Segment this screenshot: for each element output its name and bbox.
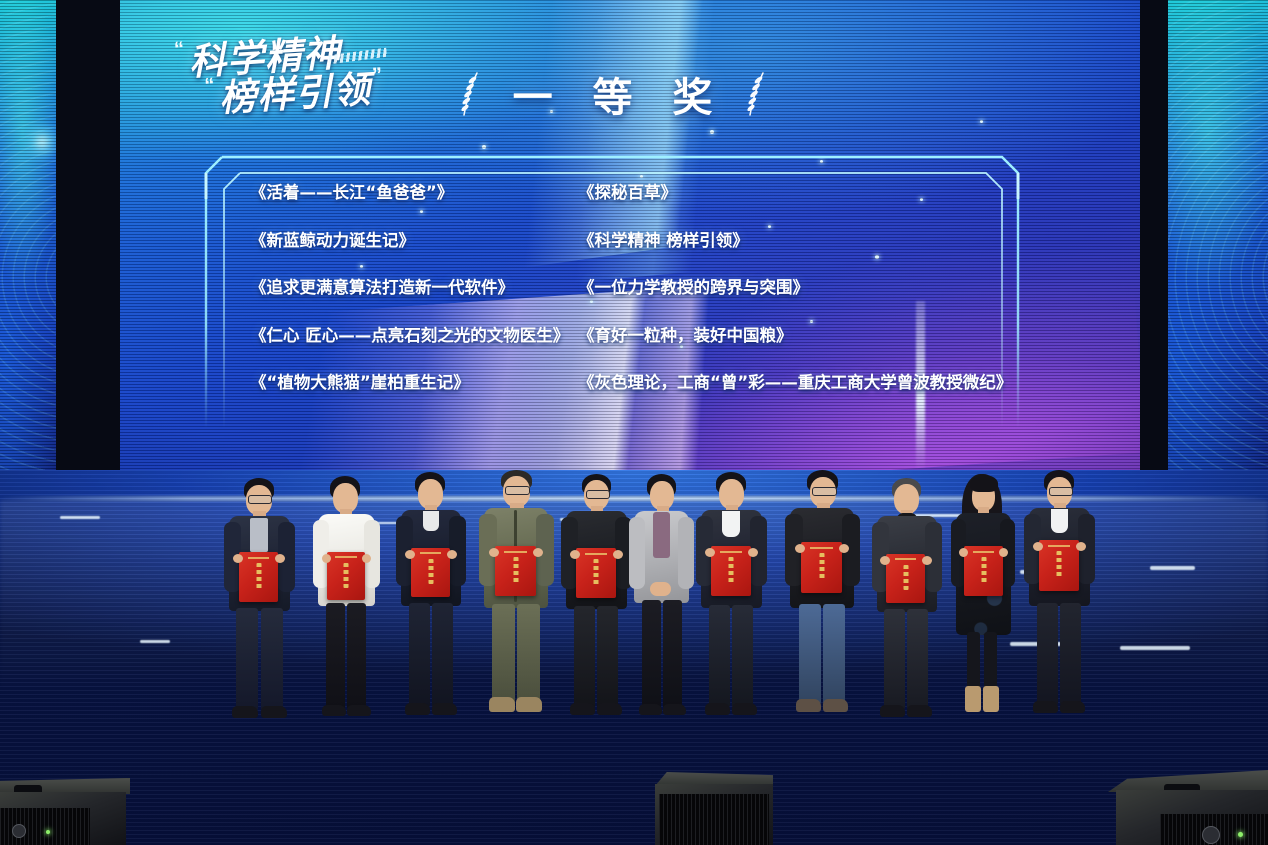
certificate-gold-header xyxy=(248,557,270,559)
certificate xyxy=(411,548,450,597)
certificate-gold-header xyxy=(335,556,356,558)
hand-right xyxy=(362,554,371,563)
boot-left xyxy=(965,686,981,712)
leg-left xyxy=(492,604,515,704)
hands-clasped xyxy=(650,582,671,596)
certificate-gold-text xyxy=(903,565,908,590)
recipient-1 xyxy=(214,478,304,728)
award-ceremony-photo: “ 科学精神 “ 榜样引领 ” 一 等 奖 xyxy=(0,0,1268,845)
certificate xyxy=(576,548,616,598)
shoe-left xyxy=(880,705,905,717)
glasses-icon xyxy=(248,495,272,504)
monitor-grill xyxy=(659,794,769,845)
recipient-9 xyxy=(862,478,950,728)
leg-left xyxy=(884,609,905,709)
hand-right xyxy=(275,554,285,563)
leg-right xyxy=(1060,603,1081,705)
shoe-left xyxy=(405,703,430,715)
monitor-power-led xyxy=(1238,832,1243,837)
leg-left xyxy=(326,603,345,709)
hand-left xyxy=(880,556,890,565)
hand-right xyxy=(922,556,932,565)
monitor-knob xyxy=(1202,826,1220,844)
certificate xyxy=(711,546,751,596)
hand-right xyxy=(999,548,1008,557)
award-recipients-row xyxy=(0,0,1268,845)
certificate-gold-text xyxy=(594,559,599,585)
leg-left xyxy=(236,608,258,710)
certificate-gold-text xyxy=(344,563,349,588)
shoe-left xyxy=(322,705,346,716)
hand-right xyxy=(748,548,758,557)
certificate-gold-header xyxy=(810,547,833,549)
shoe-left xyxy=(232,706,258,718)
hand-right xyxy=(1076,542,1086,551)
leg-left xyxy=(574,606,595,708)
certificate-gold-header xyxy=(585,553,607,555)
certificate xyxy=(239,552,278,602)
hand-left xyxy=(489,548,499,557)
certificate-gold-header xyxy=(420,552,442,554)
certificate xyxy=(495,546,536,596)
leg-right xyxy=(347,603,366,709)
inner-shirt xyxy=(250,518,268,552)
certificate xyxy=(801,542,842,593)
leg-right xyxy=(907,609,928,709)
stage-monitor-center xyxy=(655,772,773,845)
hand-left xyxy=(405,550,415,559)
certificate-gold-header xyxy=(973,551,995,553)
collar xyxy=(722,511,740,537)
leg-left xyxy=(1037,603,1058,705)
certificate-gold-header xyxy=(504,551,527,553)
leg-left xyxy=(409,603,430,707)
certificate-gold-text xyxy=(428,559,433,584)
certificate-gold-header xyxy=(720,551,742,553)
certificate xyxy=(886,554,925,603)
shoe-right xyxy=(663,704,686,715)
monitor-knob xyxy=(12,824,26,838)
shoe-left xyxy=(639,704,662,715)
leg-left xyxy=(967,632,980,694)
leg-right xyxy=(517,604,540,704)
shoe-left xyxy=(570,703,595,715)
shoe-right xyxy=(347,705,371,716)
hand-left xyxy=(322,554,331,563)
hair-top xyxy=(970,475,998,492)
shoe-left xyxy=(796,699,821,712)
leg-left xyxy=(642,600,661,708)
certificate-gold-text xyxy=(1057,551,1062,578)
recipient-8 xyxy=(776,470,868,728)
glasses-icon xyxy=(505,486,530,495)
shoe-right xyxy=(823,699,848,712)
hand-left xyxy=(233,554,243,563)
hand-left xyxy=(959,548,968,557)
shoe-right xyxy=(907,705,932,717)
shoe-right xyxy=(597,703,622,715)
certificate xyxy=(1039,540,1079,591)
hand-left xyxy=(570,550,580,559)
hand-left xyxy=(1033,542,1043,551)
recipient-4 xyxy=(470,470,562,728)
certificate-gold-text xyxy=(513,557,518,583)
monitor-power-led xyxy=(46,830,50,834)
arm-left xyxy=(629,517,645,589)
glasses-icon xyxy=(812,487,837,496)
certificate-gold-text xyxy=(819,553,824,580)
leg-right xyxy=(597,606,618,708)
leg-right xyxy=(432,603,453,707)
hand-right xyxy=(839,544,849,553)
leg-right xyxy=(261,608,283,710)
leg-right xyxy=(732,605,753,707)
recipient-10 xyxy=(940,474,1024,728)
glasses-icon xyxy=(1049,487,1073,496)
shoe-left xyxy=(1033,701,1058,713)
certificate xyxy=(964,546,1003,596)
leg-right-jeans xyxy=(823,604,845,704)
hand-right xyxy=(447,550,457,559)
collar xyxy=(423,511,439,531)
certificate-gold-header xyxy=(1048,545,1070,547)
stage-monitor-right xyxy=(1108,770,1268,845)
leg-right xyxy=(984,632,997,694)
blouse-center xyxy=(653,512,670,558)
recipient-3 xyxy=(386,472,474,728)
leg-right xyxy=(663,600,682,708)
recipient-7 xyxy=(686,472,776,728)
shoe-left xyxy=(705,703,730,715)
hand-left xyxy=(705,548,715,557)
stage-monitor-left xyxy=(0,778,130,845)
certificate-gold-header xyxy=(895,558,917,560)
leg-left-jeans xyxy=(799,604,821,704)
shoe-right xyxy=(1060,701,1085,713)
shoe-right xyxy=(432,703,457,715)
hand-right xyxy=(533,548,543,557)
glasses-icon xyxy=(586,490,610,499)
certificate-gold-text xyxy=(256,563,261,589)
collar xyxy=(1051,509,1068,533)
leg-left xyxy=(709,605,730,707)
boot-right xyxy=(983,686,999,712)
hand-left xyxy=(795,544,805,553)
certificate-gold-text xyxy=(981,557,986,583)
shoe-right xyxy=(261,706,287,718)
boot-left xyxy=(489,697,515,712)
recipient-11 xyxy=(1014,470,1104,728)
certificate xyxy=(327,552,365,600)
recipient-2 xyxy=(302,476,388,728)
certificate-gold-text xyxy=(729,557,734,583)
shoe-right xyxy=(732,703,757,715)
boot-right xyxy=(516,697,542,712)
